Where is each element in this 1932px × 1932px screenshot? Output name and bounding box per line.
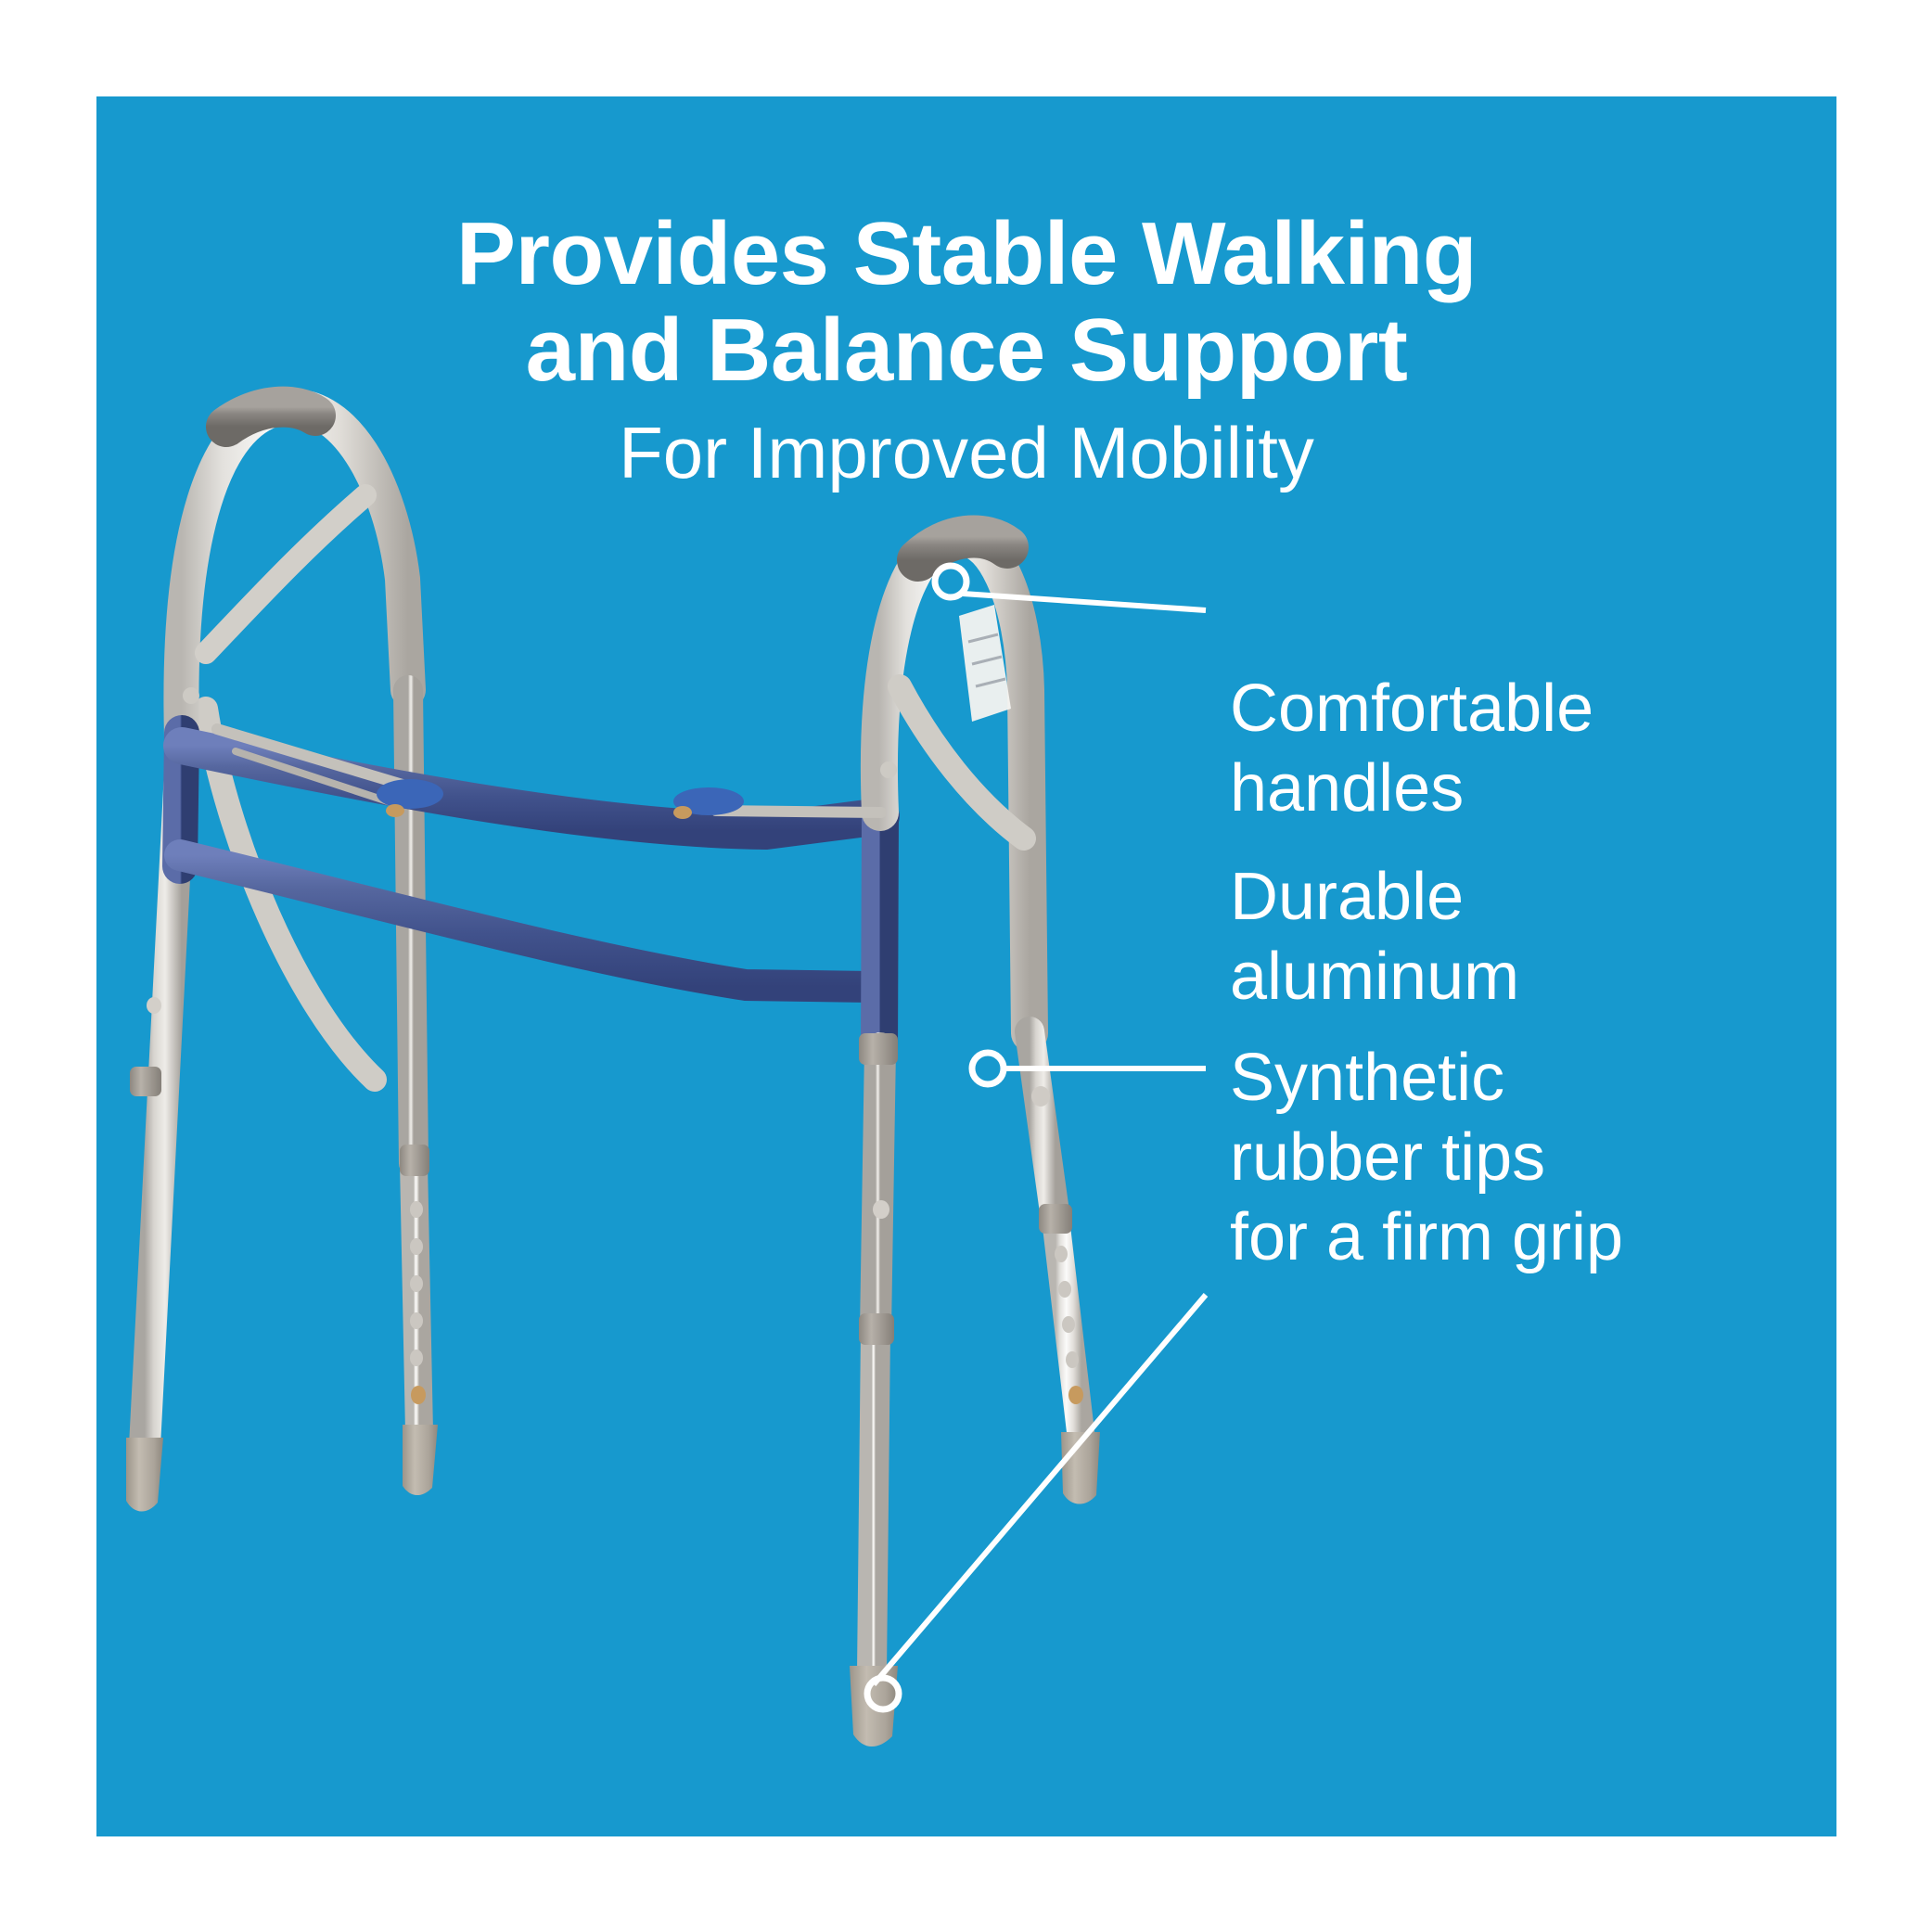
- heading-block: Provides Stable Walking and Balance Supp…: [96, 206, 1836, 497]
- title-line-1: Provides Stable Walking: [96, 206, 1836, 302]
- callout-durable-aluminum: Durable aluminum: [1230, 857, 1519, 1017]
- callout-tips-line-2: rubber tips: [1230, 1118, 1623, 1197]
- callout-tips-line-1: Synthetic: [1230, 1038, 1623, 1118]
- walker-back-frame: [126, 406, 438, 1511]
- callout-handles-line-1: Comfortable: [1230, 669, 1593, 748]
- blue-panel: Provides Stable Walking and Balance Supp…: [96, 96, 1836, 1836]
- title-line-2: and Balance Support: [96, 302, 1836, 399]
- callout-aluminum-line-2: aluminum: [1230, 937, 1519, 1017]
- callout-handles-line-2: handles: [1230, 748, 1593, 828]
- callout-tips-line-3: for a firm grip: [1230, 1197, 1623, 1277]
- subtitle: For Improved Mobility: [96, 408, 1836, 497]
- walker-blue-crossbars: [180, 733, 881, 1052]
- callout-aluminum-line-1: Durable: [1230, 857, 1519, 937]
- callout-comfortable-handles: Comfortable handles: [1230, 669, 1593, 828]
- callout-synthetic-rubber-tips: Synthetic rubber tips for a firm grip: [1230, 1038, 1623, 1277]
- walker-front-frame: [850, 536, 1100, 1746]
- poster-canvas: Provides Stable Walking and Balance Supp…: [0, 0, 1932, 1932]
